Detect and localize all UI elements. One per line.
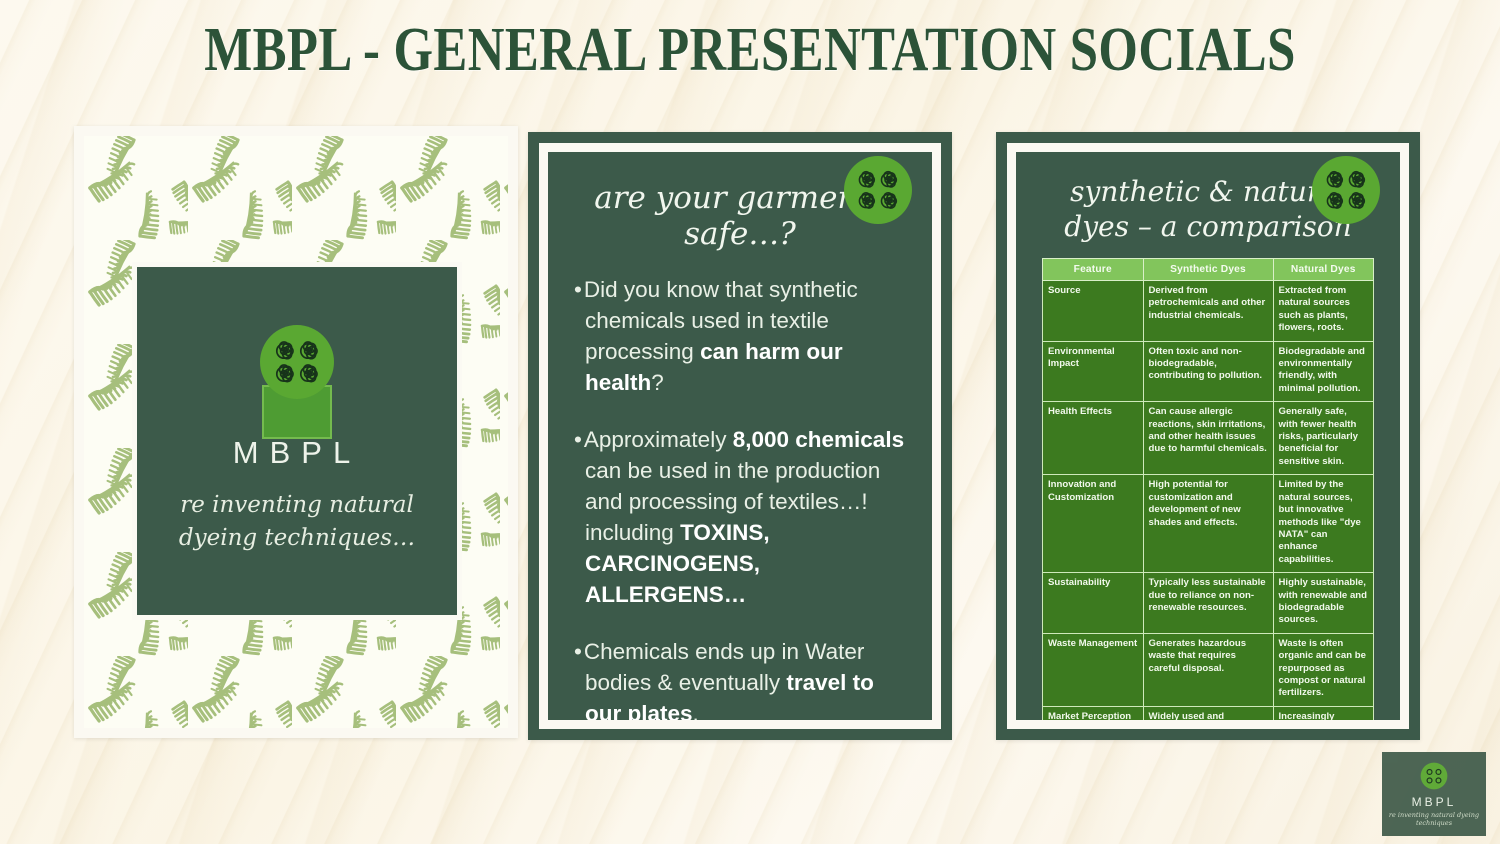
table-column-header-3: Natural Dyes: [1273, 259, 1374, 281]
four-flower-rosette-icon: [1419, 761, 1449, 791]
table-column-header-1: Feature: [1043, 259, 1144, 281]
table-row: Market PerceptionWidely used and accepte…: [1043, 706, 1374, 720]
table-cell-feat: Waste Management: [1043, 633, 1144, 706]
table-cell-feat: Innovation and Customization: [1043, 475, 1144, 573]
card-white-border: are your garments safe…? Did you know th…: [539, 143, 941, 729]
card-inner-panel: are your garments safe…? Did you know th…: [548, 152, 932, 720]
bullet-item: Did you know that synthetic chemicals us…: [574, 274, 908, 398]
table-row: SustainabilityTypically less sustainable…: [1043, 573, 1374, 634]
corner-logo-watermark: MBPL re inventing natural dyeing techniq…: [1382, 752, 1486, 836]
table-row: Environmental ImpactOften toxic and non-…: [1043, 341, 1374, 402]
table-row: Waste ManagementGenerates hazardous wast…: [1043, 633, 1374, 706]
table-cell-syn: Widely used and accepted due to availabi…: [1143, 706, 1273, 720]
watermark-brand: MBPL: [1412, 795, 1457, 809]
dye-comparison-card[interactable]: synthetic & natural dyes – a comparison …: [996, 132, 1420, 740]
table-cell-feat: Market Perception: [1043, 706, 1144, 720]
table-cell-syn: Can cause allergic reactions, skin irrit…: [1143, 402, 1273, 475]
left-card-inner-panel: MBPL re inventing natural dyeing techniq…: [132, 262, 462, 620]
table-cell-syn: Typically less sustainable due to relian…: [1143, 573, 1273, 634]
table-cell-syn: Derived from petrochemicals and other in…: [1143, 281, 1273, 342]
four-flower-rosette-icon: [844, 156, 912, 224]
slide-canvas: MBPL - GENERAL PRESENTATION SOCIALS: [0, 0, 1500, 844]
table-cell-nat: Increasingly popular among eco-conscious…: [1273, 706, 1374, 720]
bullet-list: Did you know that synthetic chemicals us…: [574, 274, 908, 720]
four-flower-rosette-icon: [260, 325, 334, 399]
table-row: SourceDerived from petrochemicals and ot…: [1043, 281, 1374, 342]
table-cell-syn: High potential for customization and dev…: [1143, 475, 1273, 573]
card-inner-panel: synthetic & natural dyes – a comparison …: [1016, 152, 1400, 720]
card-white-border: synthetic & natural dyes – a comparison …: [1007, 143, 1409, 729]
bullet-item: Approximately 8,000 chemicals can be use…: [574, 424, 908, 610]
table-cell-nat: Waste is often organic and can be repurp…: [1273, 633, 1374, 706]
table-cell-syn: Often toxic and non-biodegradable, contr…: [1143, 341, 1273, 402]
table-cell-nat: Generally safe, with fewer health risks,…: [1273, 402, 1374, 475]
table-cell-feat: Health Effects: [1043, 402, 1144, 475]
table-cell-feat: Source: [1043, 281, 1144, 342]
table-header-row: FeatureSynthetic DyesNatural Dyes: [1043, 259, 1374, 281]
table-cell-nat: Highly sustainable, with renewable and b…: [1273, 573, 1374, 634]
table-cell-nat: Extracted from natural sources such as p…: [1273, 281, 1374, 342]
table-row: Health EffectsCan cause allergic reactio…: [1043, 402, 1374, 475]
left-poster-card[interactable]: MBPL re inventing natural dyeing techniq…: [74, 126, 518, 738]
table-body: SourceDerived from petrochemicals and ot…: [1043, 281, 1374, 721]
brand-tagline: re inventing natural dyeing techniques…: [155, 489, 439, 555]
garment-safety-card[interactable]: are your garments safe…? Did you know th…: [528, 132, 952, 740]
table-column-header-2: Synthetic Dyes: [1143, 259, 1273, 281]
table-cell-syn: Generates hazardous waste that requires …: [1143, 633, 1273, 706]
table-row: Innovation and CustomizationHigh potenti…: [1043, 475, 1374, 573]
table-cell-nat: Biodegradable and environmentally friend…: [1273, 341, 1374, 402]
brand-name: MBPL: [137, 435, 457, 471]
page-title: MBPL - GENERAL PRESENTATION SOCIALS: [135, 14, 1365, 86]
watermark-tagline: re inventing natural dyeing techniques: [1382, 811, 1486, 827]
bullet-item: Chemicals ends up in Water bodies & even…: [574, 636, 908, 720]
table-cell-feat: Environmental Impact: [1043, 341, 1144, 402]
table-cell-feat: Sustainability: [1043, 573, 1144, 634]
dye-comparison-table: FeatureSynthetic DyesNatural Dyes Source…: [1042, 258, 1374, 720]
four-flower-rosette-icon: [1312, 156, 1380, 224]
table-cell-nat: Limited by the natural sources, but inno…: [1273, 475, 1374, 573]
